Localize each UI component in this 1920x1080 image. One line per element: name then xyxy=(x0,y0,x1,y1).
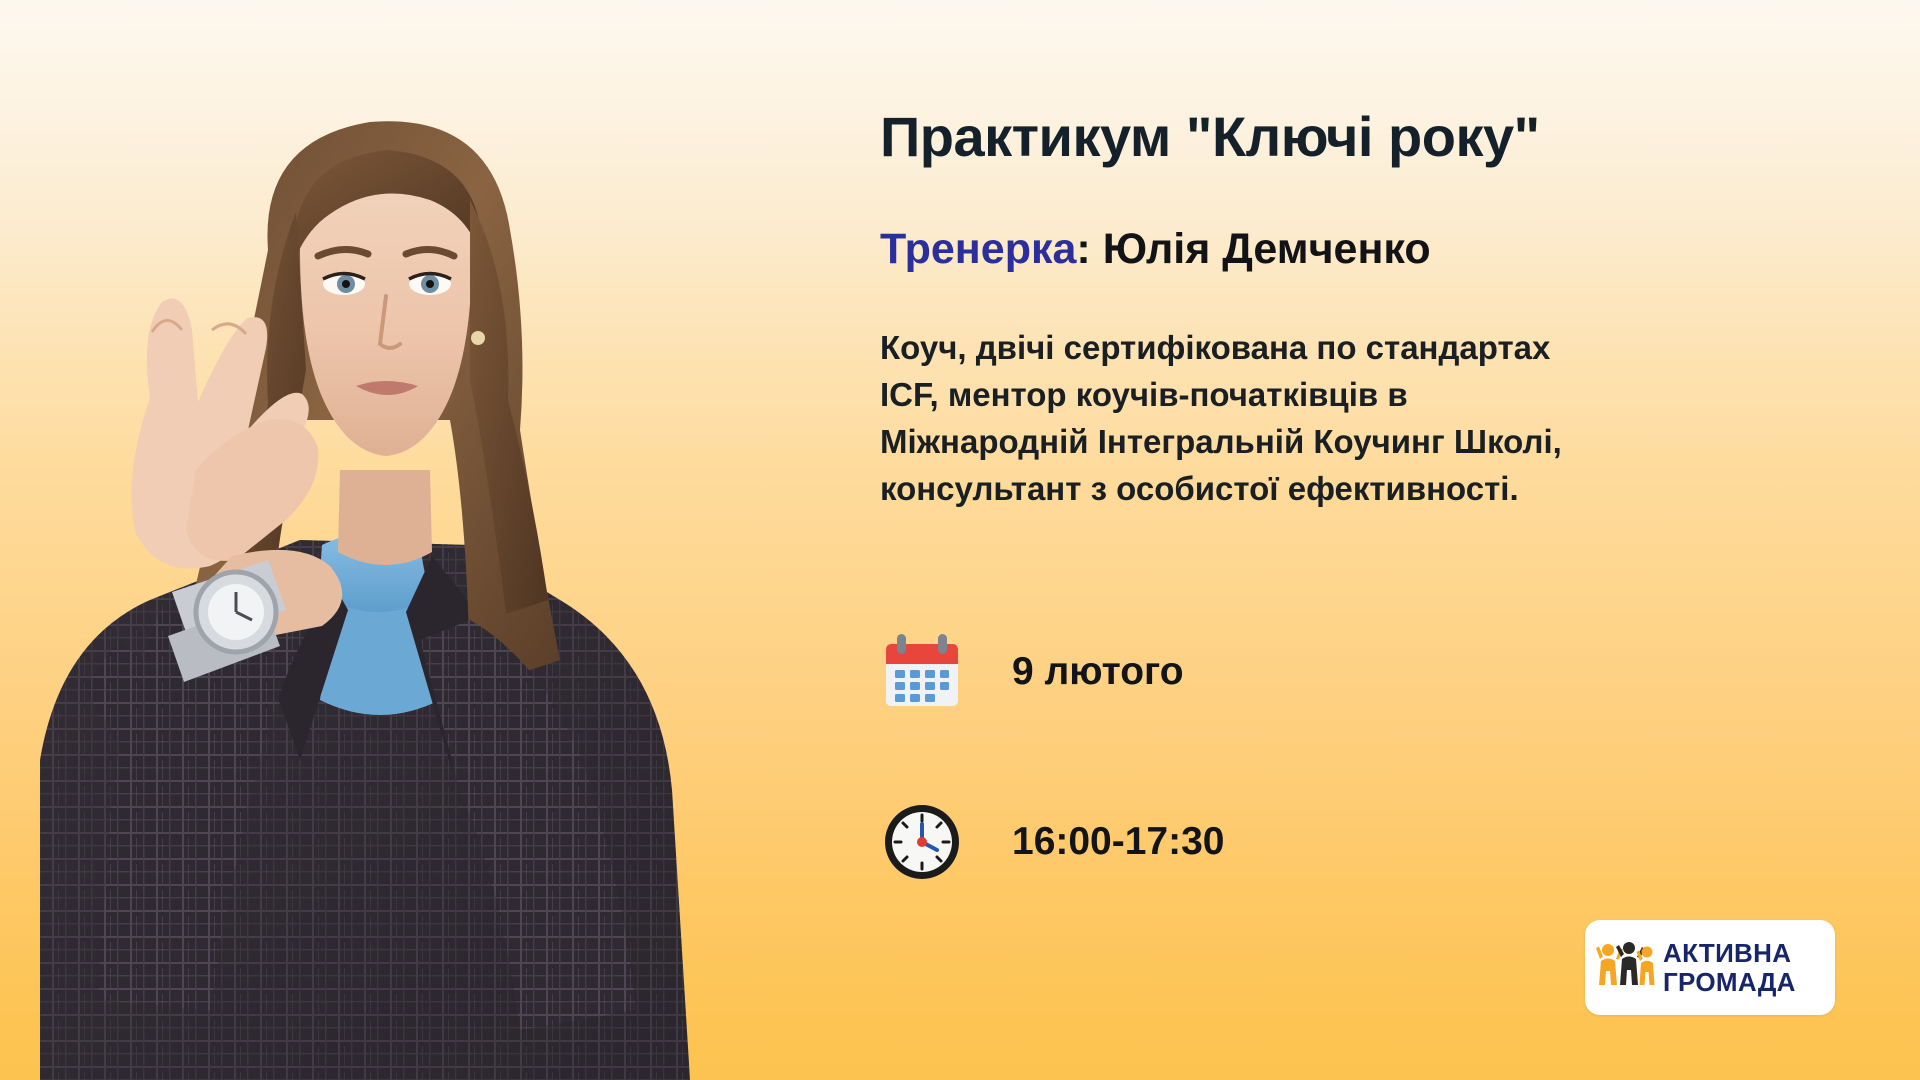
event-time-row: 16:00-17:30 xyxy=(880,800,1224,884)
promo-poster: Практикум "Ключі року" Тренерка: Юлія Де… xyxy=(0,0,1920,1080)
trainer-separator: : xyxy=(1076,225,1102,273)
trainer-bio: Коуч, двічі сертифікована по стандартах … xyxy=(880,325,1790,512)
brand-line-2: ГРОМАДА xyxy=(1663,969,1796,995)
event-date-row: 9 лютого xyxy=(880,630,1184,714)
earring xyxy=(471,331,485,345)
brand-logo-text: АКТИВНА ГРОМАДА xyxy=(1663,940,1796,995)
neck xyxy=(338,470,432,565)
trainer-photo-image xyxy=(0,0,790,1080)
bio-line-1: Коуч, двічі сертифікована по стандартах xyxy=(880,325,1790,372)
people-raising-hands-icon xyxy=(1595,937,1657,999)
brand-line-1: АКТИВНА xyxy=(1663,940,1796,966)
bio-line-4: консультант з особистої ефективності. xyxy=(880,466,1790,513)
trainer-line: Тренерка: Юлія Демченко xyxy=(880,225,1800,274)
event-date: 9 лютого xyxy=(994,650,1184,694)
clock-icon xyxy=(880,800,964,884)
event-time: 16:00-17:30 xyxy=(994,820,1224,864)
bio-line-3: Міжнародній Інтегральній Коучинг Школі, xyxy=(880,419,1790,466)
calendar-icon xyxy=(880,630,964,714)
trainer-photo xyxy=(0,0,790,1080)
content-column: Практикум "Ключі року" Тренерка: Юлія Де… xyxy=(880,0,1880,1080)
bio-line-2: ICF, ментор коучів-початківців в xyxy=(880,372,1790,419)
page-title: Практикум "Ключі року" xyxy=(880,106,1760,169)
trainer-name: Юлія Демченко xyxy=(1103,225,1431,273)
trainer-label: Тренерка xyxy=(880,225,1076,273)
brand-logo[interactable]: АКТИВНА ГРОМАДА xyxy=(1585,920,1835,1015)
